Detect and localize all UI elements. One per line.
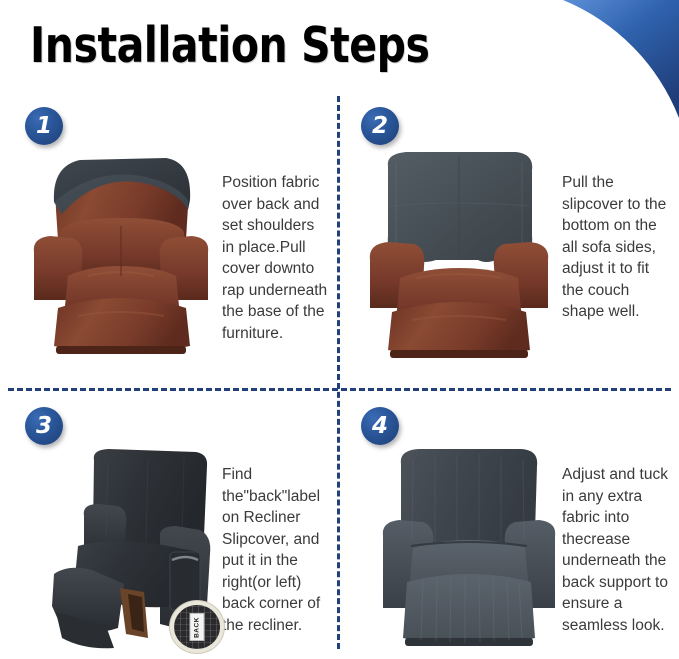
step-figure-4	[379, 440, 559, 652]
step-description-1: Position fabric over back and set should…	[222, 172, 330, 344]
back-label-text: BACK	[194, 617, 201, 638]
step-block-2: 2	[341, 96, 679, 388]
step-description-4: Adjust and tuck in any extra fabric into…	[562, 464, 674, 636]
page-title: Installation Steps	[30, 16, 429, 76]
back-label-closeup-inset: BACK	[170, 601, 224, 653]
back-label-tag: BACK	[190, 613, 205, 641]
step-figure-1	[28, 140, 214, 368]
vertical-dashed-divider	[337, 96, 340, 649]
step-description-2: Pull the slipcover to the bottom on the …	[562, 172, 672, 323]
step-description-3: Find the"back"label on Recliner Slipcove…	[222, 464, 334, 636]
step-block-4: 4	[341, 392, 679, 659]
step-figure-2	[366, 140, 552, 368]
step-block-3: 3	[0, 392, 337, 659]
step-block-1: 1	[0, 96, 337, 388]
step-number-badge-3: 3	[25, 407, 63, 445]
